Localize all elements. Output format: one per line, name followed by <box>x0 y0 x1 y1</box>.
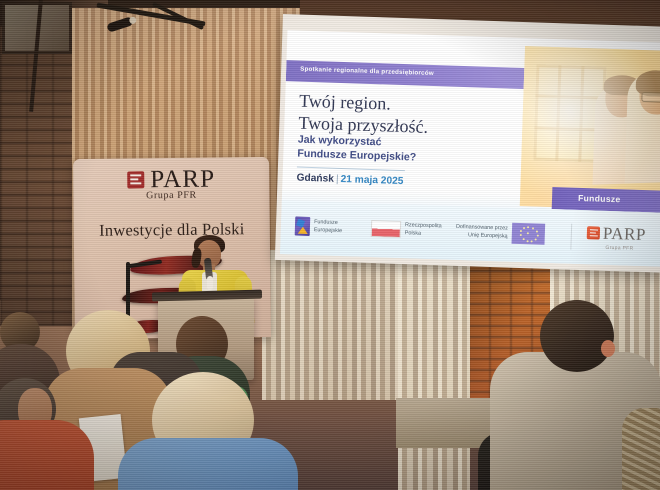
microphone-handle <box>207 276 213 290</box>
slide-subheadline-line2: Fundusze Europejskie? <box>297 147 416 164</box>
slide-divider <box>297 167 405 172</box>
parp-logo-mark-icon <box>127 171 144 188</box>
footer-divider <box>570 224 572 250</box>
logo-caption-line1: Fundusze <box>314 220 338 227</box>
parp-banner-tagline: Inwestycje dla Polski <box>74 219 270 241</box>
audience-member-body <box>118 438 298 490</box>
audience-member-body <box>0 420 94 490</box>
right-curtain-left-panel <box>398 248 470 490</box>
audience-member-ear <box>601 340 615 357</box>
logo-fundusze-europejskie: Fundusze Europejskie <box>295 217 343 238</box>
logo-rzeczpospolita-polska: Rzeczpospolita Polska <box>371 220 442 239</box>
logo-unia-europejska: Dofinansowane przez Unię Europejską <box>456 221 545 245</box>
audience-fur-coat <box>622 408 660 490</box>
slide-event-meta: Gdańsk|21 maja 2025 <box>296 173 403 188</box>
slide-photo-overexposure <box>520 46 660 211</box>
fundusze-europejskie-icon <box>295 217 311 236</box>
logo-caption-line2: Europejskie <box>314 227 342 234</box>
logo-caption: Rzeczpospolita Polska <box>405 223 442 238</box>
parp-logo-wordmark: PARP <box>150 167 215 193</box>
conference-photo: PARP Grupa PFR Inwestycje dla Polski Spo… <box>0 0 660 490</box>
parp-logo-subtitle: Grupa PFR <box>73 189 269 202</box>
eu-flag-icon <box>511 223 545 245</box>
slide-eyebrow-banner: Spotkanie regionalne dla przedsiębiorców <box>286 60 525 89</box>
logo-caption-line1: Rzeczpospolita <box>405 223 442 230</box>
logo-caption: Dofinansowane przez Unię Europejską <box>456 224 508 240</box>
slide-fundusze-tab-label: Fundusze <box>578 193 621 204</box>
slide-eyebrow-text: Spotkanie regionalne dla przedsiębiorców <box>300 66 434 77</box>
poland-flag-icon <box>371 220 402 238</box>
slide-headline: Twój region. Twoja przyszłość. <box>298 91 429 139</box>
parp-footer-subtitle: Grupa PFR <box>605 245 633 252</box>
audience-member-head <box>540 300 614 372</box>
slide-city: Gdańsk <box>296 173 334 185</box>
logo-parp-footer: PARP Grupa PFR <box>587 224 647 243</box>
eu-stars <box>511 223 545 245</box>
logo-caption-line2: Polska <box>405 230 421 237</box>
logo-caption: Fundusze Europejskie <box>314 220 343 235</box>
presentation-slide: Spotkanie regionalne dla przedsiębiorców… <box>280 30 660 267</box>
parp-logo-mark-icon <box>587 226 600 239</box>
parp-footer-lockup: PARP <box>587 224 647 243</box>
logo-caption-line2: Unię Europejską <box>468 232 508 239</box>
projection-screen: Spotkanie regionalne dla przedsiębiorców… <box>275 14 660 273</box>
slide-subheadline: Jak wykorzystać Fundusze Europejskie? <box>297 134 417 165</box>
slide-date: 21 maja 2025 <box>340 174 403 187</box>
slide-photo <box>520 46 660 211</box>
mid-curtain <box>262 250 404 400</box>
logo-caption-line1: Dofinansowane przez <box>456 224 508 232</box>
parp-footer-wordmark: PARP <box>603 225 647 243</box>
